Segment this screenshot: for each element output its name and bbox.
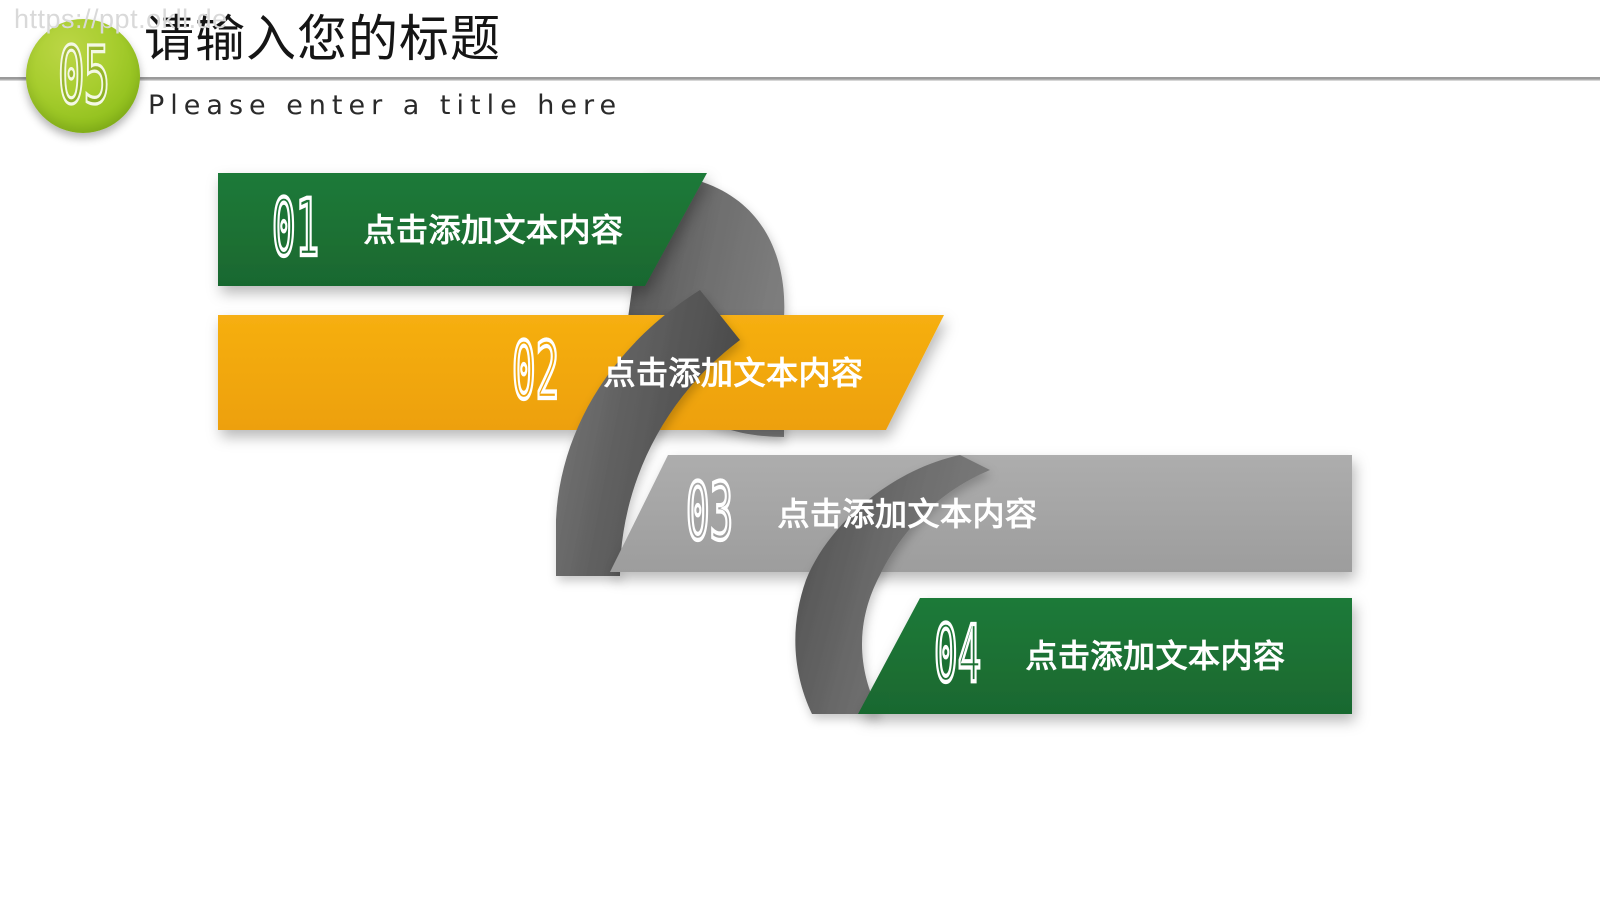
page-subtitle: Please enter a title here — [148, 92, 622, 119]
row-4-bar — [858, 598, 1352, 714]
process-diagram — [0, 0, 1600, 900]
row-2-bar — [218, 315, 944, 430]
section-number-label: 05 — [58, 36, 109, 115]
watermark-text: https://ppt.okll.de — [14, 4, 228, 35]
section-number-badge: 05 — [26, 19, 140, 133]
header-divider — [0, 77, 1600, 81]
slide-canvas: https://ppt.okll.de 05 请输入您的标题 Please en… — [0, 0, 1600, 900]
